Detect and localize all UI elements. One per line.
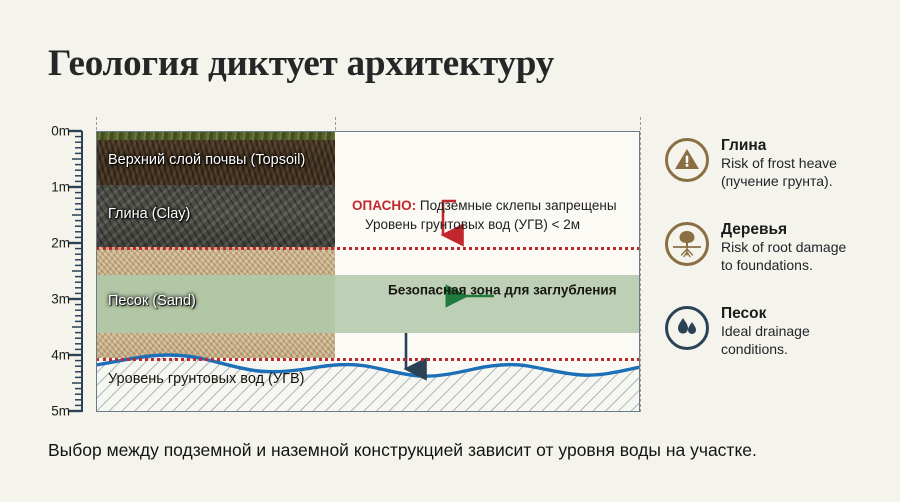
legend-body-sand-1: Ideal drainage	[721, 323, 893, 341]
page-title: Геология диктует архитектуру	[48, 42, 554, 85]
soil-cross-section: Верхний слой почвы (Topsoil) Глина (Clay…	[96, 131, 640, 412]
axis-tick-0m: 0m	[51, 124, 70, 139]
legend-item-clay[interactable]: Глина Risk of frost heave (пучение грунт…	[665, 136, 893, 198]
legend-title-trees: Деревья	[721, 220, 893, 239]
layer-label-sand: Песок (Sand)	[108, 293, 196, 309]
water-drops-icon	[665, 306, 709, 350]
depth-line-4m	[96, 358, 640, 361]
legend-body-clay-1: Risk of frost heave	[721, 155, 893, 173]
danger-tag: ОПАСНО:	[352, 198, 416, 213]
legend-body-trees-2: to foundations.	[721, 257, 893, 275]
axis-tick-1m: 1m	[51, 180, 70, 195]
danger-text-2: Уровень грунтовых вод (УГВ) < 2м	[352, 215, 617, 234]
safe-zone-label: Безопасная зона для заглубления	[388, 283, 617, 298]
footer-caption: Выбор между подземной и наземной констру…	[48, 440, 757, 461]
legend-item-sand[interactable]: Песок Ideal drainage conditions.	[665, 304, 893, 366]
warning-triangle-icon	[665, 138, 709, 182]
danger-callout: ОПАСНО: Подземные склепы запрещены Урове…	[352, 196, 617, 234]
layer-label-clay: Глина (Clay)	[108, 206, 190, 222]
danger-line-1: ОПАСНО: Подземные склепы запрещены	[352, 196, 617, 215]
danger-text-1: Подземные склепы запрещены	[420, 198, 617, 213]
axis-tick-5m: 5m	[51, 404, 70, 419]
legend: Глина Risk of frost heave (пучение грунт…	[665, 136, 893, 388]
depth-line-2m	[96, 247, 640, 250]
legend-body-trees-1: Risk of root damage	[721, 239, 893, 257]
legend-body-sand-2: conditions.	[721, 341, 893, 359]
axis-tick-3m: 3m	[51, 292, 70, 307]
legend-title-sand: Песок	[721, 304, 893, 323]
layer-label-topsoil: Верхний слой почвы (Topsoil)	[108, 152, 305, 168]
axis-tick-4m: 4m	[51, 348, 70, 363]
legend-item-trees[interactable]: Деревья Risk of root damage to foundatio…	[665, 220, 893, 282]
groundwater-label: Уровень грунтовых вод (УГВ)	[108, 371, 304, 387]
depth-ruler: 0m 1m 2m 3m 4m 5m	[38, 117, 96, 417]
tree-roots-icon	[665, 222, 709, 266]
legend-body-clay-2: (пучение грунта).	[721, 173, 893, 191]
groundwater-graphics	[96, 131, 640, 412]
ruler-svg	[38, 117, 96, 417]
legend-title-clay: Глина	[721, 136, 893, 155]
axis-tick-2m: 2m	[51, 236, 70, 251]
guide-line-right	[640, 117, 641, 412]
